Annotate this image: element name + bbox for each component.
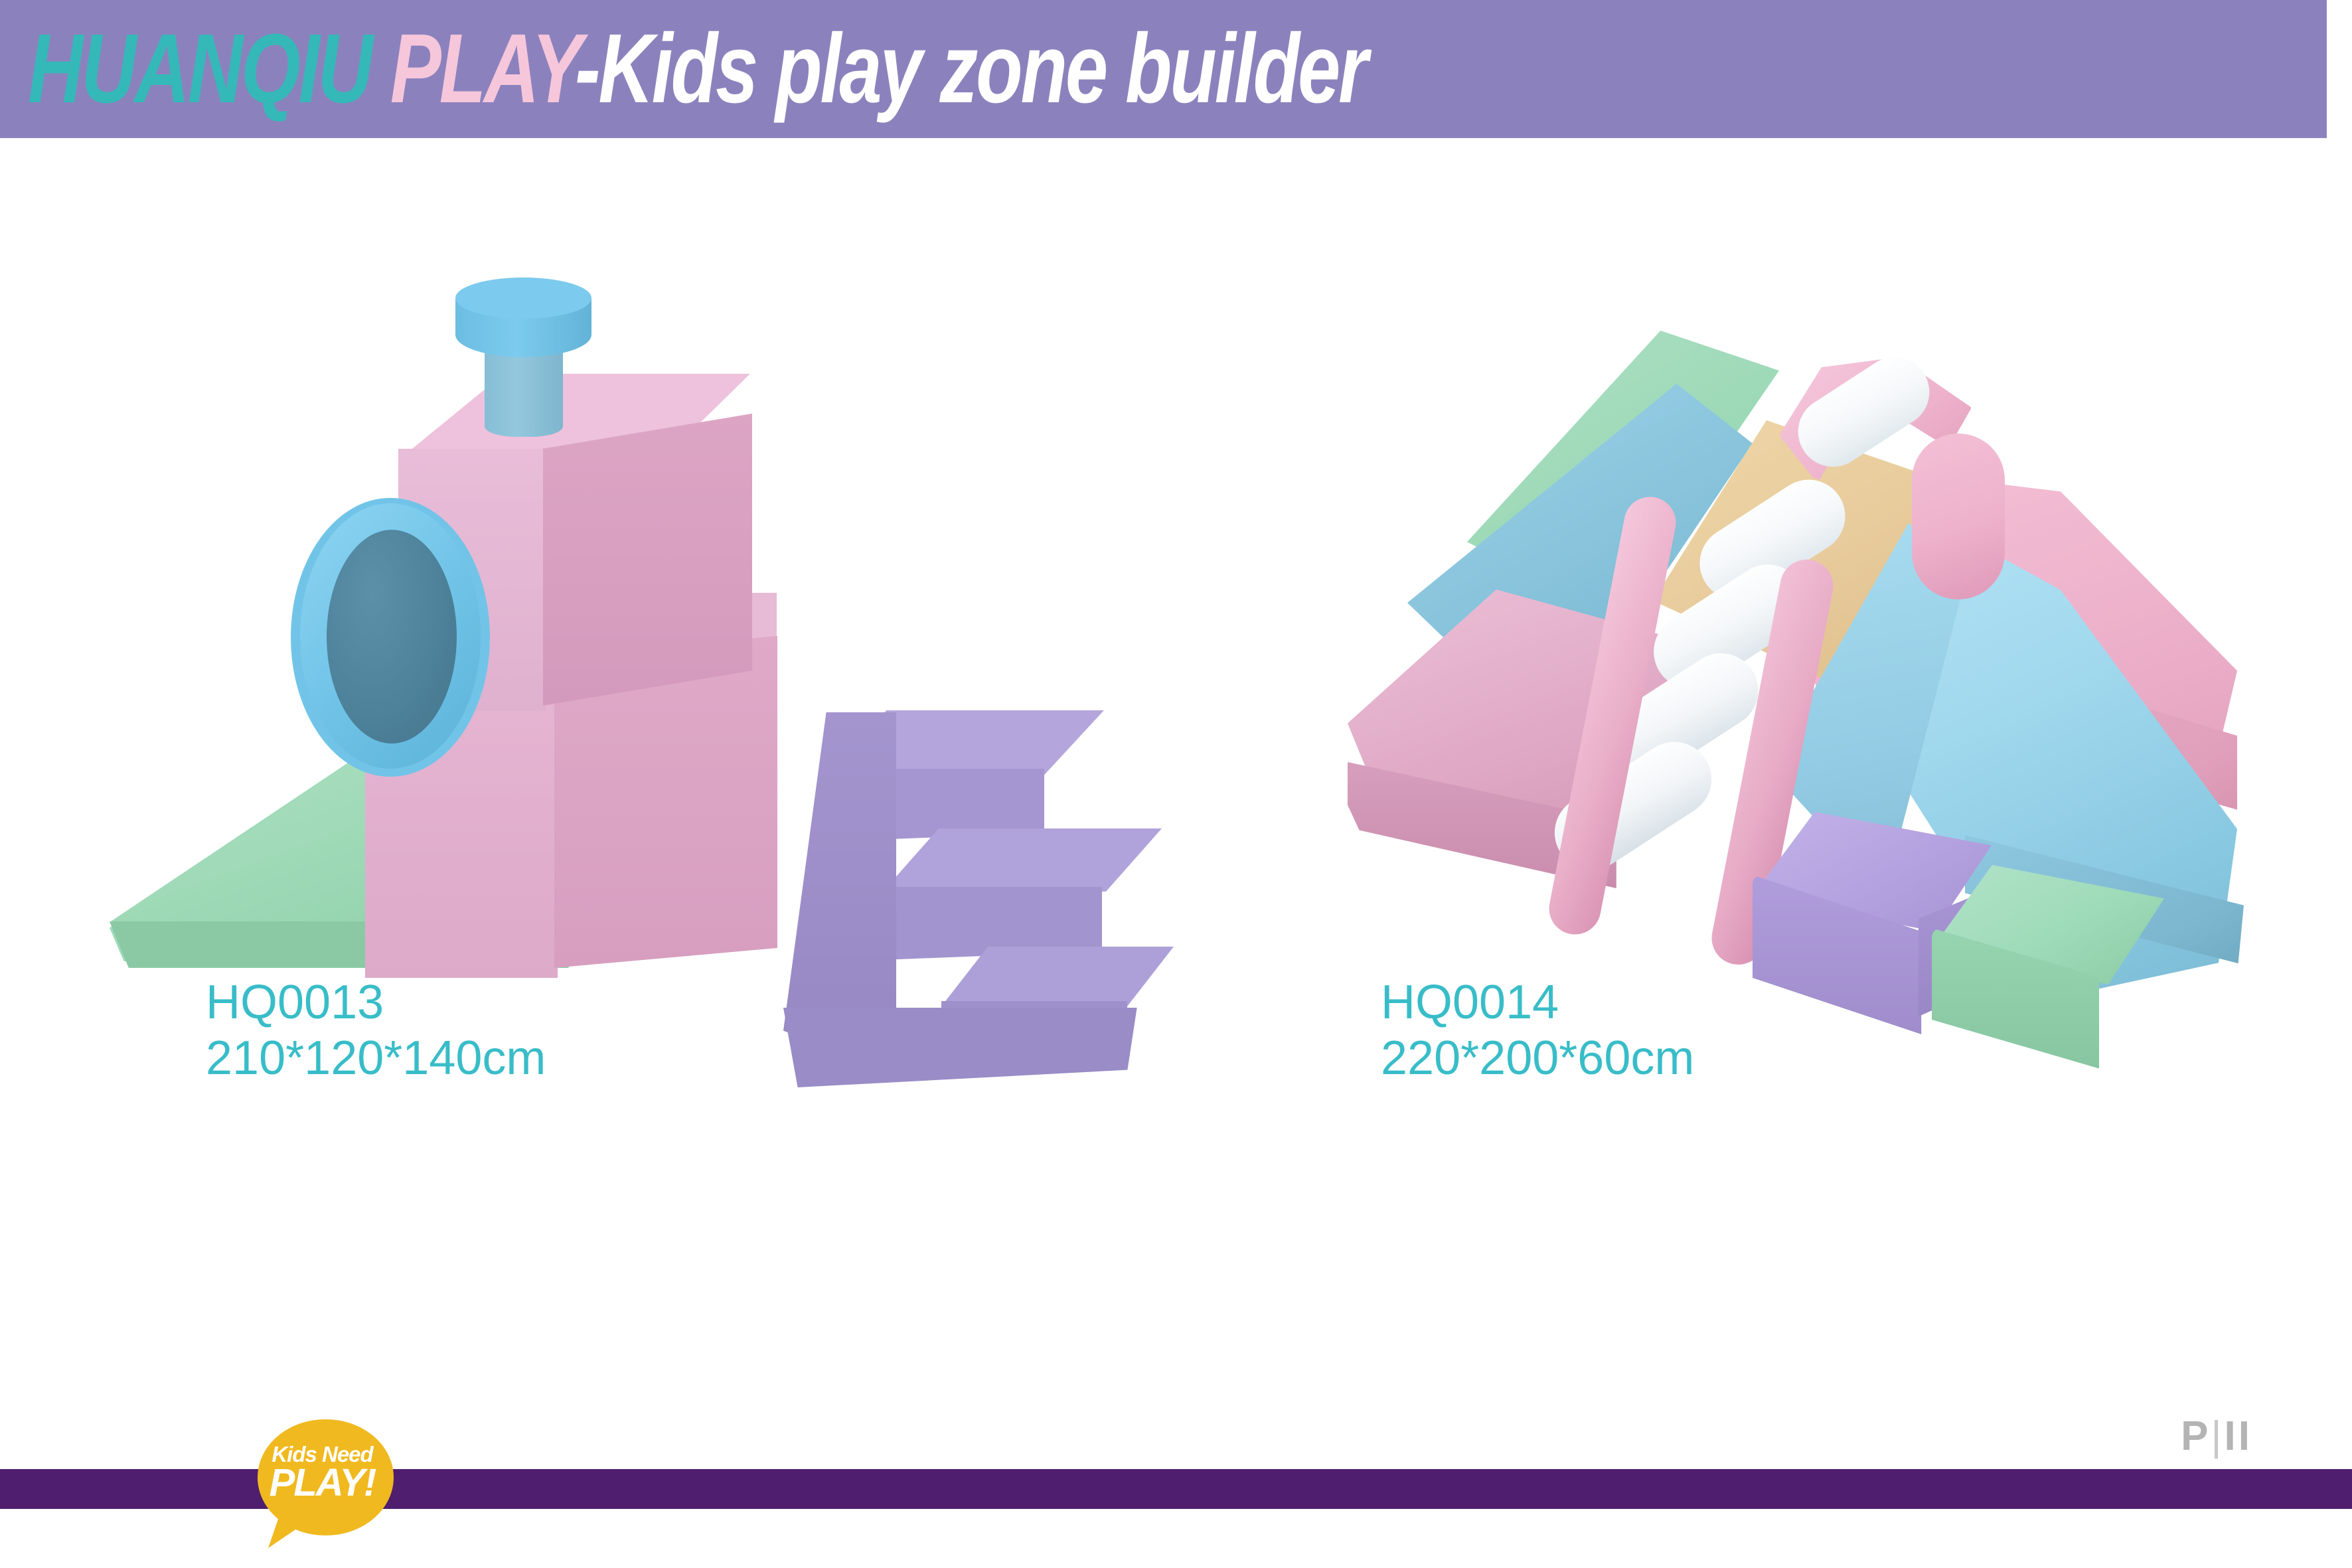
- brand-huanqiu: HUANQIU: [28, 14, 371, 123]
- product-stage: HQ0013 210*120*140cm: [0, 138, 2352, 1393]
- logo-line-2: PLAY!: [251, 1460, 394, 1505]
- pink-handrail-right: [1912, 433, 2005, 599]
- purple-stair-base-front: [783, 1008, 1142, 1087]
- product-code-hq0013: HQ0013: [206, 975, 546, 1030]
- page-number: II: [2225, 1413, 2252, 1459]
- tunnel-hole: [327, 530, 457, 744]
- page-title: HUANQIU PLAY-Kids play zone builder: [28, 16, 1366, 122]
- page-label: P: [2181, 1413, 2211, 1459]
- product-card-hq0013[interactable]: HQ0013 210*120*140cm: [119, 304, 1155, 1167]
- caption-hq0014: HQ0014 220*200*60cm: [1381, 975, 1694, 1086]
- brand-logo[interactable]: Kids Need PLAY!: [251, 1419, 398, 1552]
- header-tagline: -Kids play zone builder: [575, 14, 1366, 123]
- product-card-hq0014[interactable]: HQ0014 220*200*60cm: [1368, 304, 2244, 1167]
- product-code-hq0014: HQ0014: [1381, 975, 1694, 1030]
- purple-stair-step2-top: [883, 828, 1162, 892]
- caption-hq0013: HQ0013 210*120*140cm: [206, 975, 546, 1086]
- pink-block-upper-right: [543, 414, 752, 706]
- product-dimensions-hq0014: 220*200*60cm: [1381, 1030, 1694, 1086]
- blue-cylinder-cap-top: [455, 277, 591, 319]
- page-indicator: P|II: [2181, 1413, 2252, 1460]
- product-dimensions-hq0013: 210*120*140cm: [206, 1030, 546, 1086]
- brand-play: PLAY: [390, 14, 575, 123]
- page-separator: |: [2211, 1413, 2224, 1459]
